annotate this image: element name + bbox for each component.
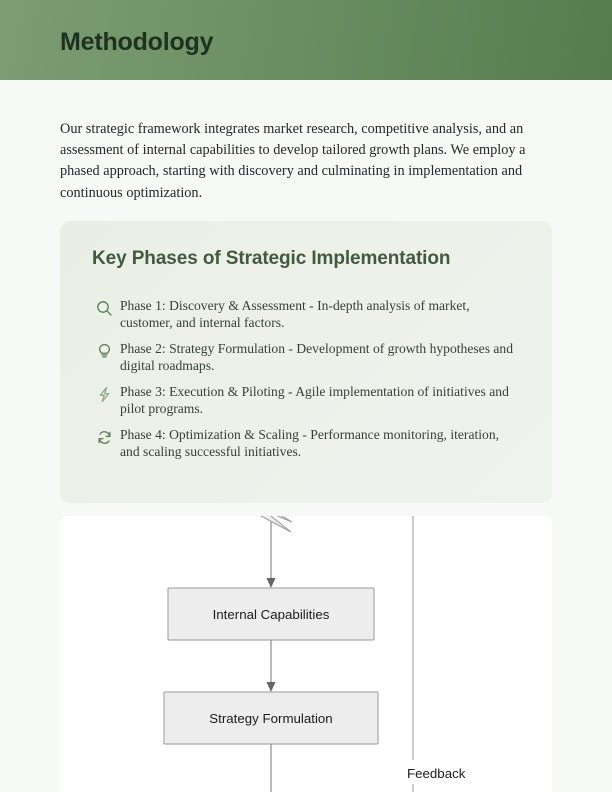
page-title: Methodology xyxy=(60,30,213,55)
phase-item-label: Phase 2: Strategy Formulation - Developm… xyxy=(116,340,522,374)
list-item: Phase 1: Discovery & Assessment - In-dep… xyxy=(92,297,522,331)
flowchart-diagram: Internal Capabilities Strategy Formulati… xyxy=(60,516,552,792)
phase-item-label: Phase 4: Optimization & Scaling - Perfor… xyxy=(116,426,522,460)
search-icon xyxy=(92,300,116,322)
arrowhead-2 xyxy=(267,682,276,692)
intro-paragraph: Our strategic framework integrates marke… xyxy=(60,119,552,204)
feedback-label: Feedback xyxy=(407,766,466,781)
list-item: Phase 3: Execution & Piloting - Agile im… xyxy=(92,383,522,417)
arrowhead-1 xyxy=(267,578,276,588)
lightning-bolt-icon xyxy=(92,386,116,408)
phase-item-label: Phase 3: Execution & Piloting - Agile im… xyxy=(116,383,522,417)
phase-item-label: Phase 1: Discovery & Assessment - In-dep… xyxy=(116,297,522,331)
list-item: Phase 4: Optimization & Scaling - Perfor… xyxy=(92,426,522,460)
page-root: Methodology Our strategic framework inte… xyxy=(0,0,612,792)
refresh-cycle-icon xyxy=(92,429,116,451)
page-header: Methodology xyxy=(0,0,612,80)
decision-node-partial-fill xyxy=(229,516,292,522)
phase-list: Phase 1: Discovery & Assessment - In-dep… xyxy=(92,297,522,469)
flow-node-label: Internal Capabilities xyxy=(213,607,330,622)
key-phases-heading: Key Phases of Strategic Implementation xyxy=(92,248,450,271)
lightbulb-icon xyxy=(92,343,116,365)
flowchart-card: Internal Capabilities Strategy Formulati… xyxy=(60,516,552,792)
flow-node-label: Strategy Formulation xyxy=(209,711,332,726)
key-phases-card: Key Phases of Strategic Implementation P… xyxy=(60,221,552,503)
list-item: Phase 2: Strategy Formulation - Developm… xyxy=(92,340,522,374)
